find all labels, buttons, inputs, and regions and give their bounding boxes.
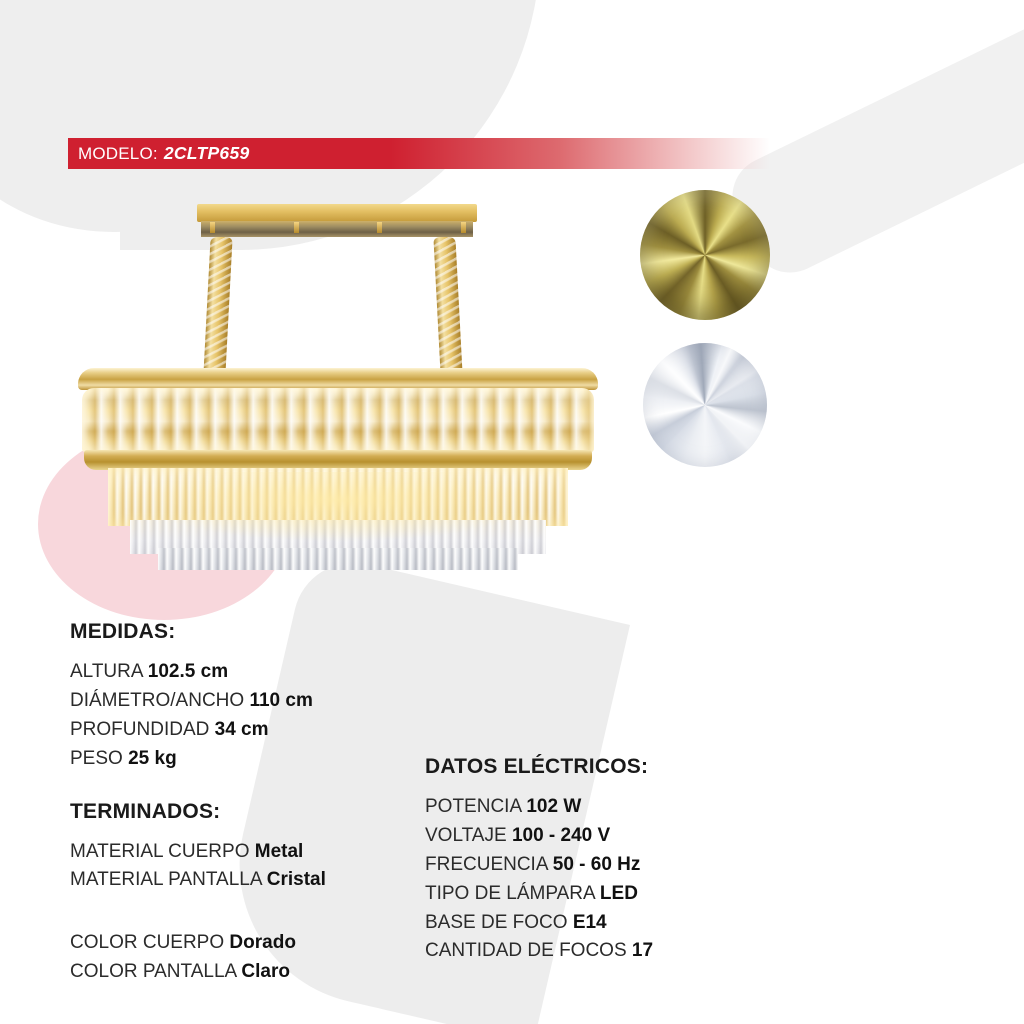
electrical-heading: DATOS ELÉCTRICOS: [425, 755, 725, 779]
spec-label: MATERIAL CUERPO [70, 841, 249, 862]
spec-row-color-cuerpo: COLOR CUERPO Dorado [70, 929, 400, 958]
spec-row-peso: PESO 25 kg [70, 745, 400, 774]
spec-value: 102.5 cm [148, 661, 228, 682]
model-code: 2CLTP659 [164, 143, 250, 164]
spec-value: LED [600, 883, 638, 904]
spec-label: COLOR CUERPO [70, 932, 224, 953]
model-banner: MODELO: 2CLTP659 [68, 138, 770, 169]
measures-heading: MEDIDAS: [70, 620, 400, 644]
spec-row-altura: ALTURA 102.5 cm [70, 658, 400, 687]
finishes-heading: TERMINADOS: [70, 800, 400, 824]
spacer [70, 774, 400, 800]
spec-label: ALTURA [70, 661, 143, 682]
spec-value: 110 cm [249, 690, 312, 711]
spec-value: E14 [573, 912, 607, 933]
suspension-chain-left [203, 237, 232, 375]
spec-value: 17 [632, 940, 653, 961]
spacer [70, 895, 400, 929]
spec-value: 50 - 60 Hz [553, 854, 641, 875]
crystal-fringe-tier-1 [108, 468, 568, 526]
clear-crystal-swatch [643, 343, 767, 467]
canopy-plate-top [197, 204, 477, 222]
spec-row-base-foco: BASE DE FOCO E14 [425, 909, 725, 938]
spec-row-frecuencia: FRECUENCIA 50 - 60 Hz [425, 851, 725, 880]
spec-label: COLOR PANTALLA [70, 961, 236, 982]
spec-value: Cristal [267, 869, 326, 890]
spec-value: Metal [255, 841, 304, 862]
spec-label: MATERIAL PANTALLA [70, 869, 261, 890]
spec-row-color-pantalla: COLOR PANTALLA Claro [70, 958, 400, 987]
spec-label: BASE DE FOCO [425, 912, 568, 933]
gold-rim-middle [84, 450, 592, 470]
spec-label: POTENCIA [425, 796, 521, 817]
spec-value: 25 kg [128, 748, 177, 769]
spec-value: 34 cm [215, 719, 269, 740]
spec-label: FRECUENCIA [425, 854, 547, 875]
left-spec-column: MEDIDAS: ALTURA 102.5 cm DIÁMETRO/ANCHO … [70, 620, 400, 987]
product-image [60, 190, 620, 590]
spec-value: Dorado [229, 932, 296, 953]
spec-label: TIPO DE LÁMPARA [425, 883, 595, 904]
spec-value: Claro [241, 961, 290, 982]
spec-label: VOLTAJE [425, 825, 507, 846]
crystal-fringe-tier-3 [158, 548, 518, 570]
spec-row-tipo-lampara: TIPO DE LÁMPARA LED [425, 880, 725, 909]
spec-row-voltaje: VOLTAJE 100 - 240 V [425, 822, 725, 851]
spec-label: PROFUNDIDAD [70, 719, 209, 740]
canopy-lugs [210, 222, 466, 234]
product-spec-sheet: MODELO: 2CLTP659 MEDIDAS: ALTURA 102.5 c… [0, 0, 1024, 1024]
spec-value: 102 W [526, 796, 581, 817]
gold-rim-top [78, 368, 598, 390]
spec-row-cantidad-focos: CANTIDAD DE FOCOS 17 [425, 937, 725, 966]
spec-row-material-cuerpo: MATERIAL CUERPO Metal [70, 838, 400, 867]
spec-row-profundidad: PROFUNDIDAD 34 cm [70, 716, 400, 745]
spec-label: DIÁMETRO/ANCHO [70, 690, 244, 711]
crystal-bead-band [82, 388, 594, 452]
gold-finish-swatch [640, 190, 770, 320]
spec-label: PESO [70, 748, 123, 769]
spec-value: 100 - 240 V [512, 825, 610, 846]
model-label: MODELO: [78, 144, 158, 164]
chandelier-body [78, 368, 598, 578]
spec-row-potencia: POTENCIA 102 W [425, 793, 725, 822]
suspension-chain-right [433, 237, 462, 375]
spec-row-diametro: DIÁMETRO/ANCHO 110 cm [70, 687, 400, 716]
spec-label: CANTIDAD DE FOCOS [425, 940, 627, 961]
spec-row-material-pantalla: MATERIAL PANTALLA Cristal [70, 866, 400, 895]
right-spec-column: DATOS ELÉCTRICOS: POTENCIA 102 W VOLTAJE… [425, 755, 725, 966]
